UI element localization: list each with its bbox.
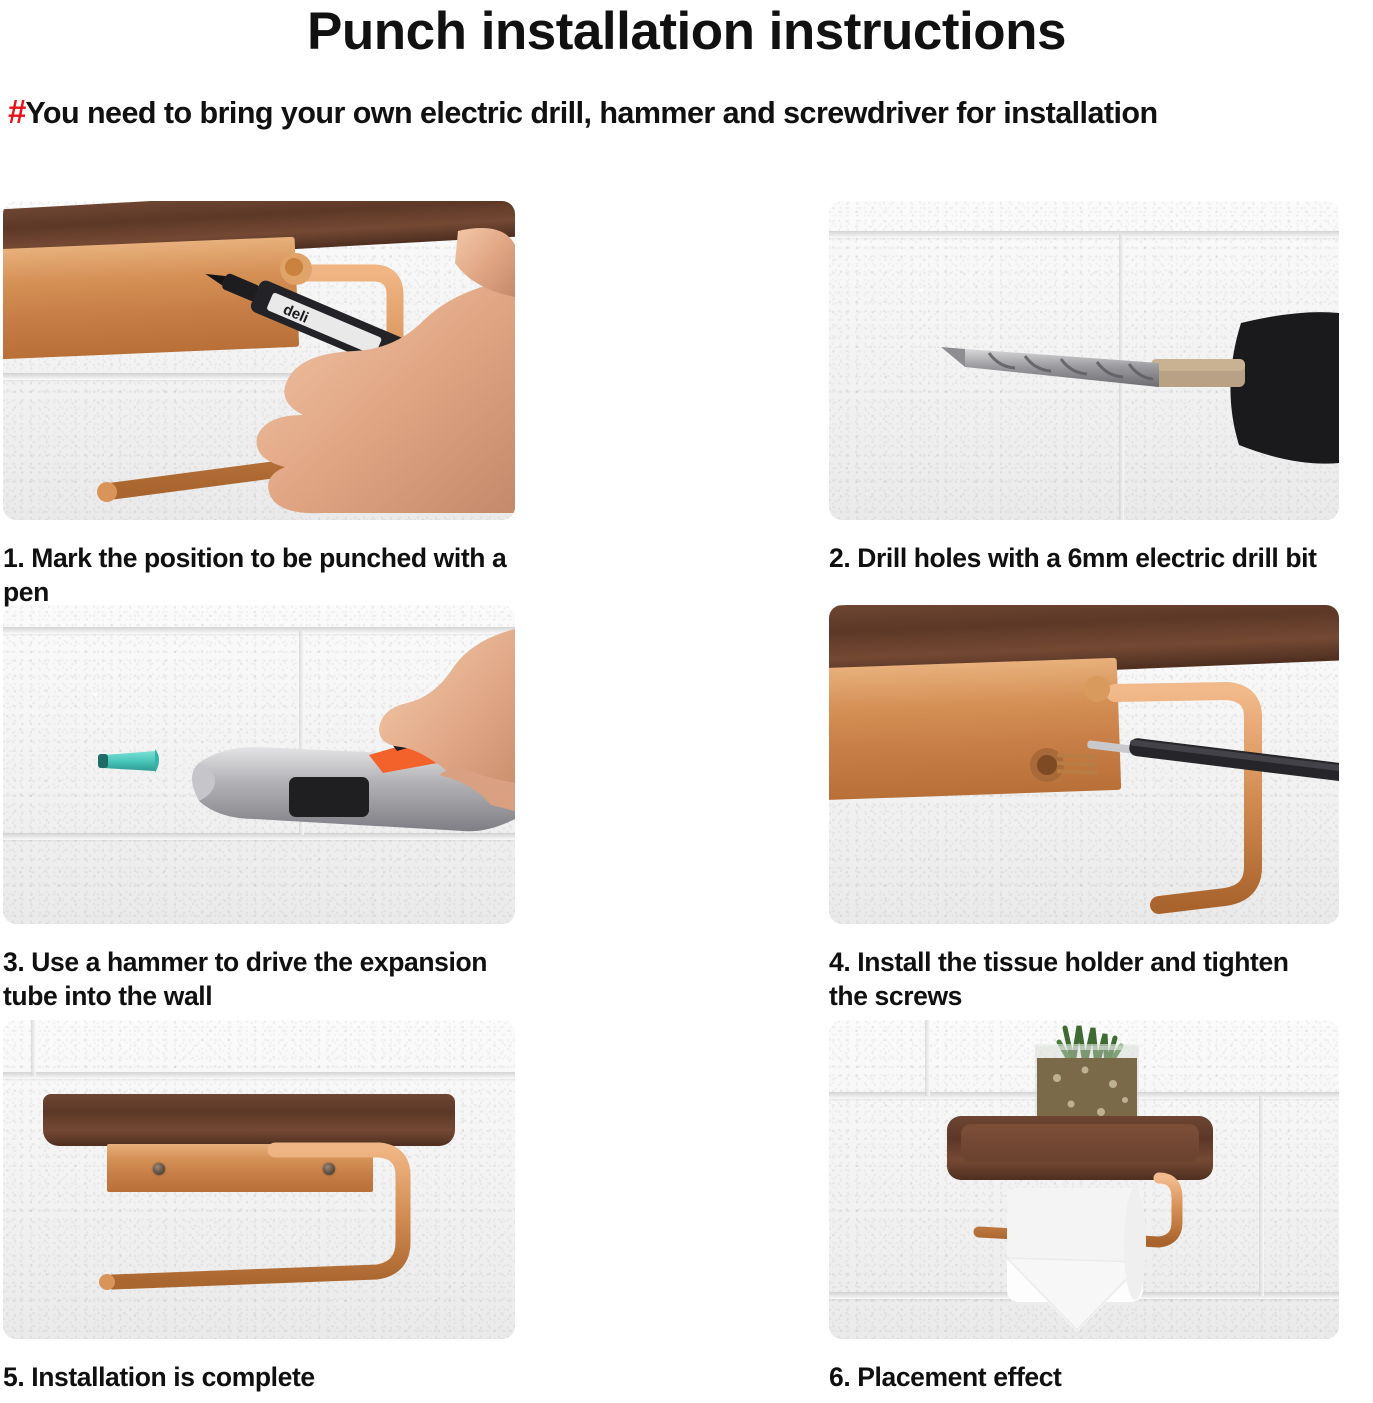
step-6: 6. Placement effect	[829, 1020, 1339, 1400]
steps-grid: deli 1. Mark the position to be punched …	[3, 201, 1339, 1400]
screwdriver	[829, 605, 1339, 924]
tools-required-note: #You need to bring your own electric dri…	[8, 94, 1373, 131]
drill-bit	[829, 201, 1339, 520]
step-6-photo	[829, 1020, 1339, 1339]
step-3-photo	[3, 605, 515, 924]
hand	[3, 201, 515, 520]
step-4-caption: 4. Install the tissue holder and tighten…	[829, 946, 1339, 1014]
step-5-caption: 5. Installation is complete	[3, 1361, 515, 1395]
hash-icon: #	[8, 93, 25, 130]
step-2-caption: 2. Drill holes with a 6mm electric drill…	[829, 542, 1339, 576]
step-3: 3. Use a hammer to drive the expansion t…	[3, 605, 515, 1020]
step-1-photo: deli	[3, 201, 515, 520]
tools-required-text: You need to bring your own electric dril…	[25, 96, 1157, 130]
hand	[3, 605, 515, 924]
step-2: 2. Drill holes with a 6mm electric drill…	[829, 201, 1339, 605]
step-5-photo	[3, 1020, 515, 1339]
step-2-photo	[829, 201, 1339, 520]
copper-holder-bar	[3, 1020, 515, 1339]
step-3-caption: 3. Use a hammer to drive the expansion t…	[3, 946, 515, 1014]
step-5: 5. Installation is complete	[3, 1020, 515, 1400]
step-4-photo	[829, 605, 1339, 924]
step-1: deli 1. Mark the position to be punched …	[3, 201, 515, 605]
step-4: 4. Install the tissue holder and tighten…	[829, 605, 1339, 1020]
page-title: Punch installation instructions	[0, 5, 1373, 58]
step-6-caption: 6. Placement effect	[829, 1361, 1339, 1395]
step-1-caption: 1. Mark the position to be punched with …	[3, 542, 515, 610]
toilet-paper-roll	[829, 1020, 1339, 1339]
